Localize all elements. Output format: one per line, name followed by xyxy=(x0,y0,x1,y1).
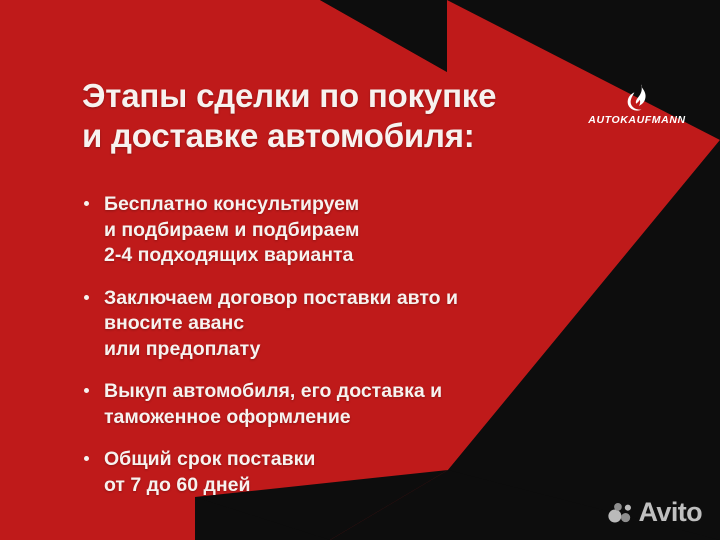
brand-wordmark: AUTOKAUFMANN xyxy=(578,114,696,126)
bullet-dot-icon xyxy=(84,388,89,393)
bullet-dot-icon xyxy=(84,295,89,300)
list-item-line: от 7 до 60 дней xyxy=(104,473,642,499)
avito-dots-icon xyxy=(608,502,634,524)
list-item: Выкуп автомобиля, его доставка и таможен… xyxy=(82,379,642,430)
list-item-line: или предоплату xyxy=(104,337,642,363)
list-item-line: Бесплатно консультируем xyxy=(104,192,642,218)
steps-list: Бесплатно консультируем и подбираем и по… xyxy=(82,192,642,498)
flame-swoosh-icon xyxy=(622,82,652,112)
list-item-line: и подбираем и подбираем xyxy=(104,218,642,244)
list-item-line: таможенное оформление xyxy=(104,405,642,431)
list-item-line: вносите аванс xyxy=(104,311,642,337)
page-title-line-1: Этапы сделки по покупке xyxy=(82,76,622,116)
list-item: Общий срок поставки от 7 до 60 дней xyxy=(82,447,642,498)
page-title-line-2: и доставке автомобиля: xyxy=(82,116,622,156)
avito-watermark: Avito xyxy=(608,499,703,526)
list-item-line: 2-4 подходящих варианта xyxy=(104,243,642,269)
list-item-line: Заключаем договор поставки авто и xyxy=(104,286,642,312)
list-item: Бесплатно консультируем и подбираем и по… xyxy=(82,192,642,269)
promo-poster: Этапы сделки по покупке и доставке автом… xyxy=(0,0,720,540)
page-title: Этапы сделки по покупке и доставке автом… xyxy=(82,76,622,156)
brand-logo: AUTOKAUFMANN xyxy=(578,82,696,126)
bullet-dot-icon xyxy=(84,201,89,206)
list-item-line: Выкуп автомобиля, его доставка и xyxy=(104,379,642,405)
bullet-dot-icon xyxy=(84,456,89,461)
list-item: Заключаем договор поставки авто и вносит… xyxy=(82,286,642,363)
list-item-line: Общий срок поставки xyxy=(104,447,642,473)
avito-wordmark: Avito xyxy=(639,499,703,526)
